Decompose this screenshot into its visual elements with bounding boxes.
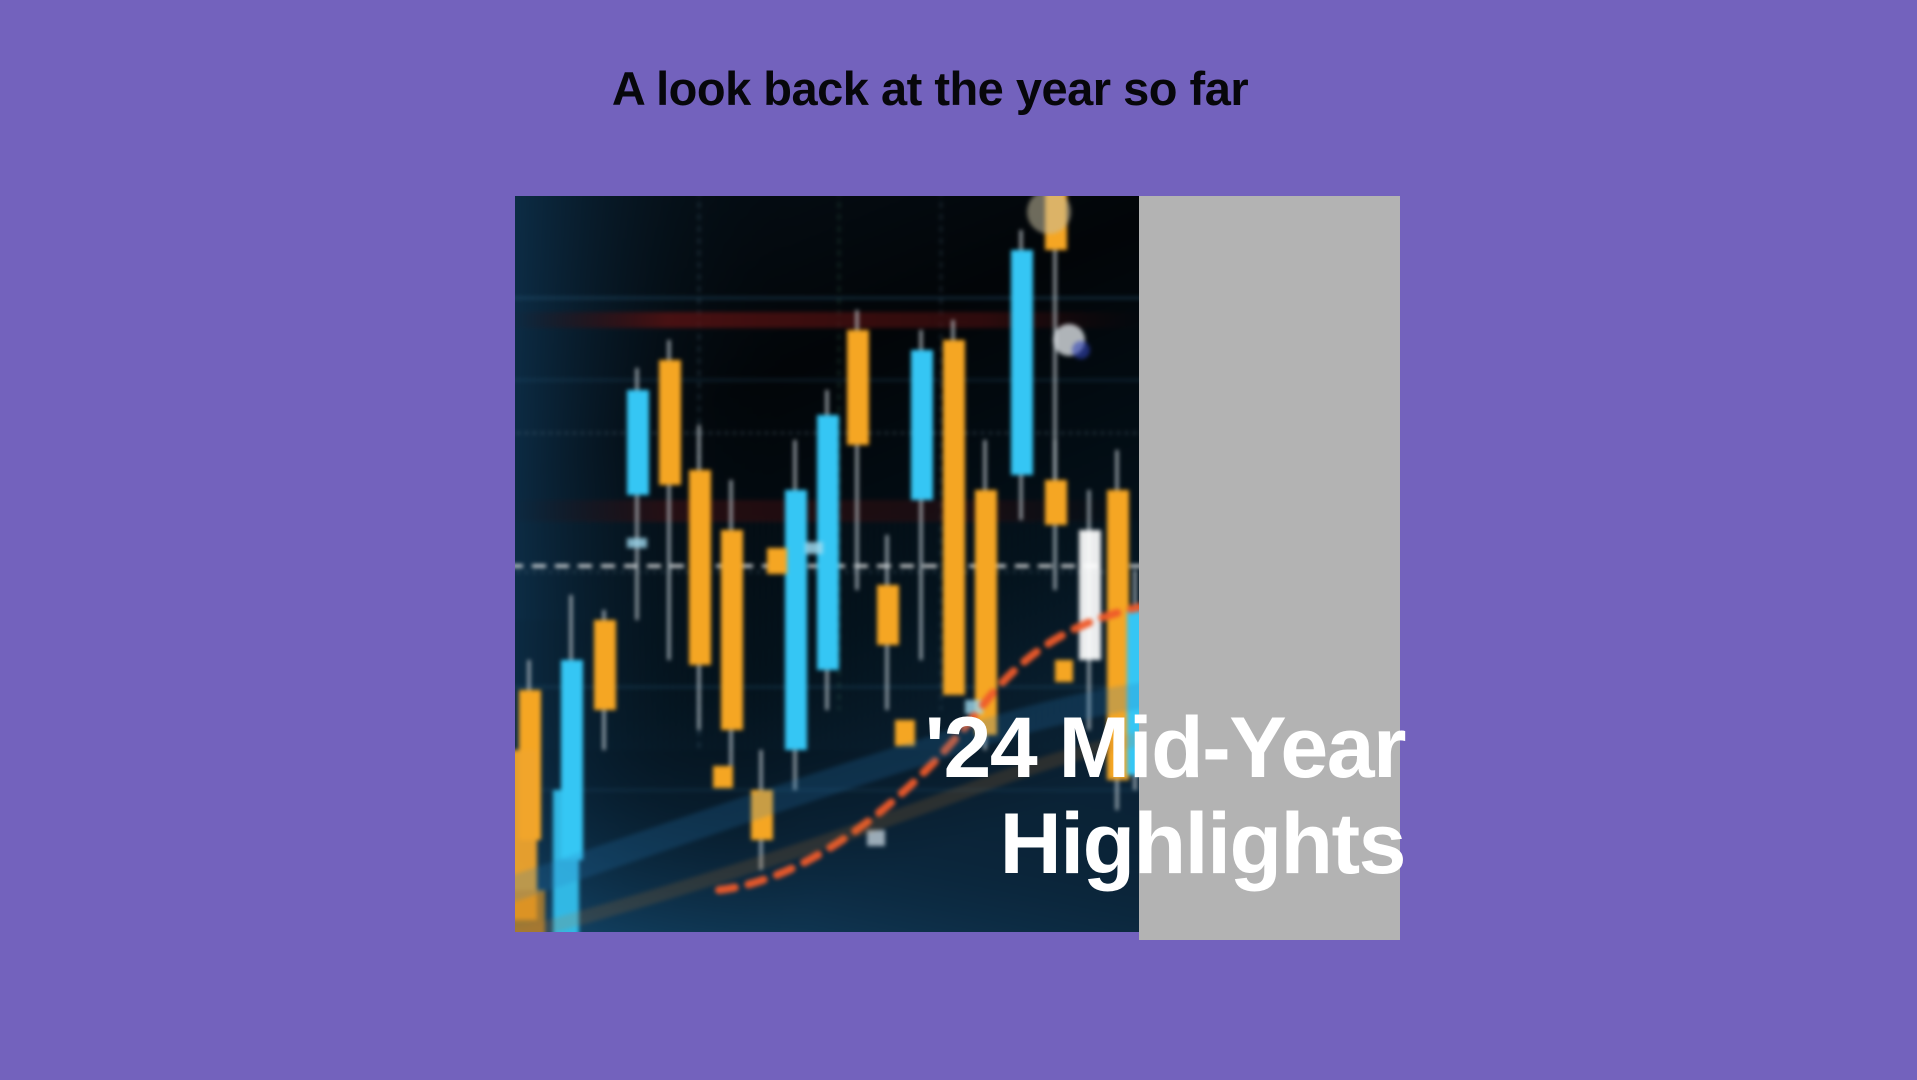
media-block [515, 196, 1400, 940]
slide-canvas: A look back at the year so far [0, 0, 1917, 1080]
candlestick-chart-image [515, 196, 1139, 932]
page-title: A look back at the year so far [500, 62, 1360, 116]
candlestick-chart-graphic [515, 196, 1139, 932]
image-placeholder [1139, 196, 1400, 940]
